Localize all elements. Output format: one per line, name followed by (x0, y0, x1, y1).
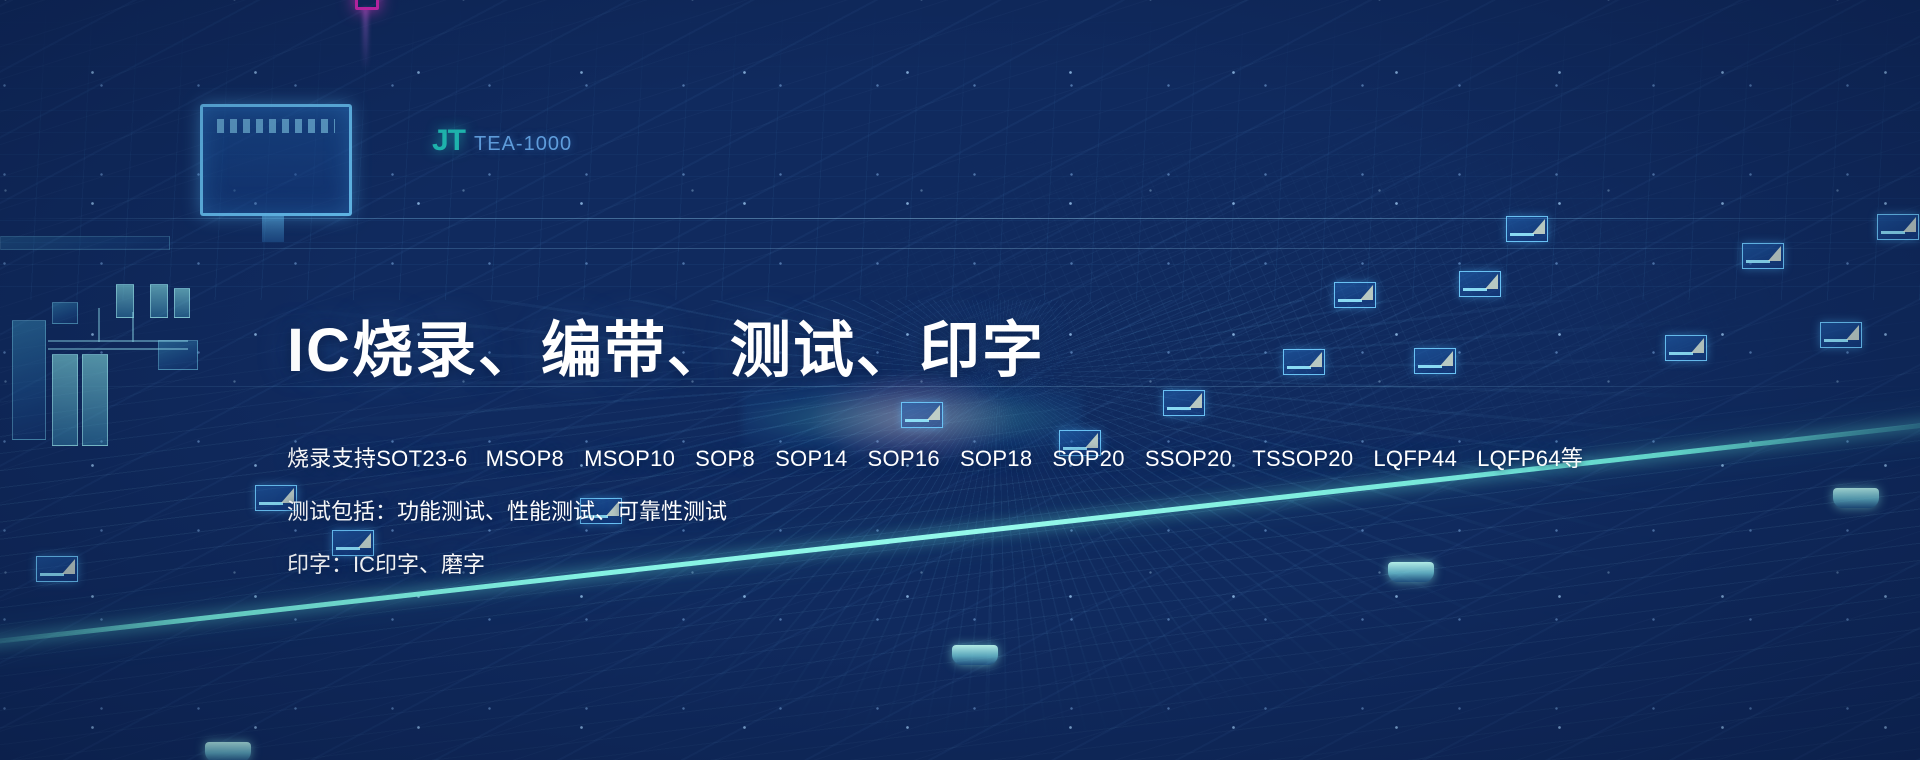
marketing-banner: JT TEA-1000 IC烧录、编带、测试、印字 烧录支持SOT23-6MSO… (0, 0, 1920, 760)
vignette-overlay (0, 0, 1920, 760)
